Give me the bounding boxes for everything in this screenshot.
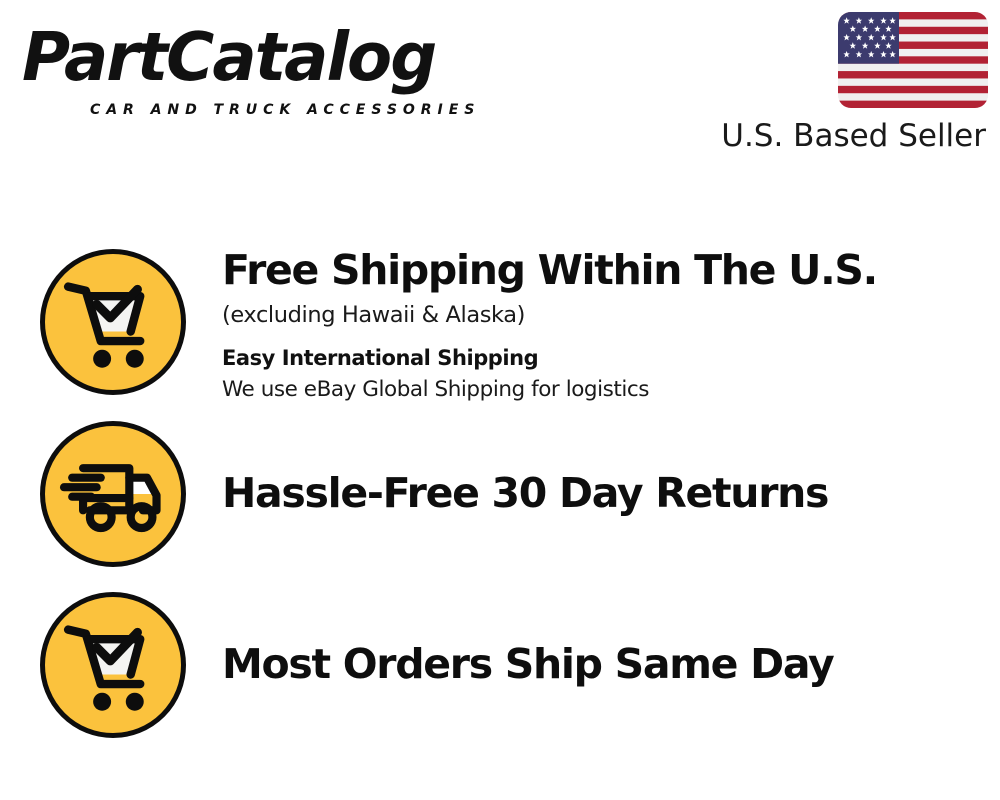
feature-title: Hassle-Free 30 Day Returns <box>222 468 990 518</box>
feature-text-block: Free Shipping Within The U.S. (excluding… <box>222 245 990 405</box>
brand-wordmark: PartCatalog <box>22 18 435 96</box>
promo-banner: PartCatalog CAR AND TRUCK ACCESSORIES <box>0 0 1000 800</box>
brand-logo: PartCatalog CAR AND TRUCK ACCESSORIES <box>22 18 492 118</box>
feature-sub-title: Easy International Shipping <box>222 343 990 374</box>
banner-header: PartCatalog CAR AND TRUCK ACCESSORIES <box>0 0 1000 175</box>
feature-title: Free Shipping Within The U.S. <box>222 245 990 295</box>
us-flag-icon <box>838 12 988 108</box>
feature-row: Most Orders Ship Same Day <box>0 592 1000 752</box>
us-based-seller-badge: U.S. Based Seller <box>718 12 988 162</box>
shopping-cart-check-icon <box>40 249 186 395</box>
feature-list: Free Shipping Within The U.S. (excluding… <box>0 240 1000 760</box>
us-based-seller-label: U.S. Based Seller <box>721 116 986 156</box>
feature-sub-note: We use eBay Global Shipping for logistic… <box>222 374 990 405</box>
feature-text-block: Hassle-Free 30 Day Returns <box>222 468 990 518</box>
feature-text-block: Most Orders Ship Same Day <box>222 639 990 689</box>
delivery-truck-icon <box>40 421 186 567</box>
feature-row: Hassle-Free 30 Day Returns <box>0 421 1000 593</box>
brand-tagline: CAR AND TRUCK ACCESSORIES <box>90 102 480 118</box>
feature-title: Most Orders Ship Same Day <box>222 639 990 689</box>
shopping-cart-check-icon <box>40 592 186 738</box>
feature-row: Free Shipping Within The U.S. (excluding… <box>0 249 1000 421</box>
feature-note: (excluding Hawaii & Alaska) <box>222 299 990 331</box>
